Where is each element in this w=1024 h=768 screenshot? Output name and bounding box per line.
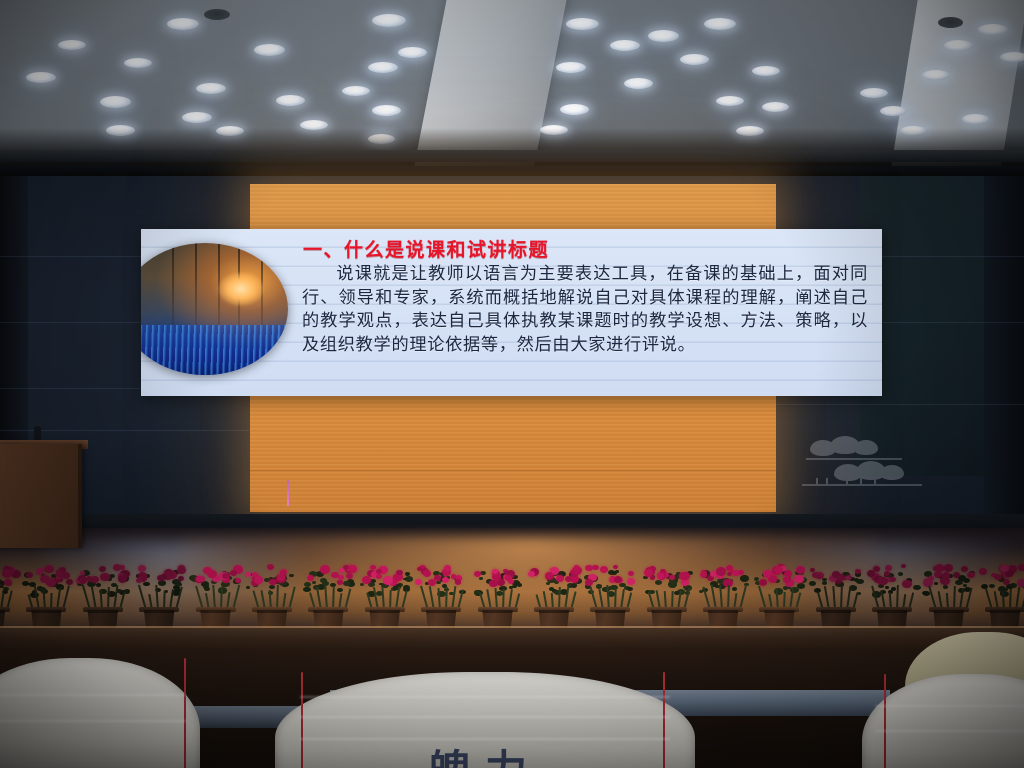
downlight-icon — [58, 40, 86, 50]
auditorium-scene: 一、什么是说课和试讲标题 说课就是让教师以语言为主要表达工具，在备课的基础上，面… — [0, 0, 1024, 768]
downlight-icon — [680, 54, 709, 65]
cursor-streak — [287, 480, 289, 506]
downlight-icon — [962, 114, 989, 124]
downlight-icon — [944, 40, 973, 51]
downlight-icon — [372, 14, 406, 27]
downlight-icon — [752, 66, 780, 76]
downlight-icon — [556, 62, 586, 73]
downlight-icon — [610, 40, 640, 51]
back-wall-right-edge — [984, 168, 1024, 528]
downlight-icon — [100, 96, 131, 108]
downlight-icon — [860, 88, 888, 98]
slide-oval-photo — [141, 243, 288, 375]
presentation-slide[interactable]: 一、什么是说课和试讲标题 说课就是让教师以语言为主要表达工具，在备课的基础上，面… — [141, 229, 882, 396]
wall-seam-line — [776, 404, 1024, 405]
downlight-icon — [124, 58, 152, 68]
downlight-icon — [716, 96, 744, 106]
downlight-icon — [880, 106, 907, 116]
downlight-icon — [762, 102, 789, 112]
podium — [0, 444, 82, 548]
cloud-mountain-motif — [800, 432, 950, 492]
downlight-icon — [648, 30, 679, 42]
ceiling-rim-trim — [0, 150, 1024, 162]
downlight-icon — [368, 62, 398, 73]
downlight-icon — [978, 24, 1008, 35]
slide-body-text: 说课就是让教师以语言为主要表达工具，在备课的基础上，面对同行、领导和专家，系统而… — [302, 263, 868, 357]
downlight-icon — [26, 72, 56, 83]
downlight-icon — [1000, 52, 1024, 62]
downlight-icon — [566, 18, 599, 30]
downlight-icon — [182, 112, 212, 123]
downlight-icon — [342, 86, 370, 96]
ceiling-vent-left — [204, 9, 230, 20]
downlight-icon — [560, 104, 589, 115]
downlight-icon — [276, 95, 305, 106]
downlight-icon — [624, 78, 653, 89]
downlight-icon — [372, 105, 401, 116]
podium-side-edge — [78, 444, 82, 548]
ceiling-vent-right — [938, 17, 963, 28]
downlight-icon — [254, 44, 285, 56]
downlight-icon — [398, 47, 427, 58]
downlight-icon — [704, 18, 736, 30]
downlight-icon — [196, 83, 226, 94]
slide-title: 一、什么是说课和试讲标题 — [303, 235, 549, 262]
back-wall-top-trim — [0, 166, 1024, 176]
chair-cover-calligraphy: 魄力 — [275, 737, 695, 768]
downlight-icon — [922, 70, 950, 80]
downlight-icon — [167, 18, 199, 30]
